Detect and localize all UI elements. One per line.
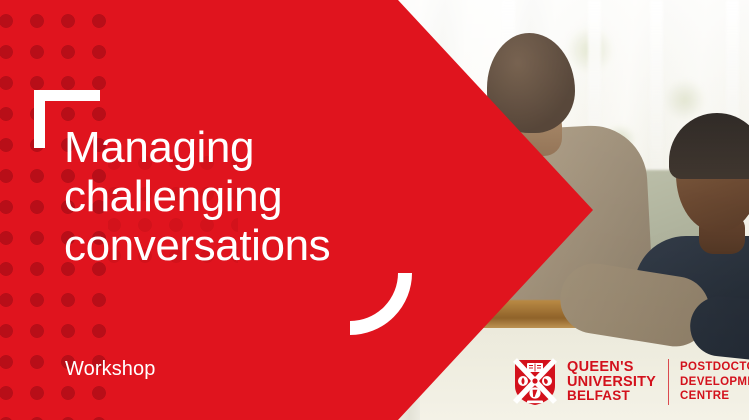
university-name-line-1: QUEEN'S (567, 360, 656, 375)
corner-bracket-vertical (34, 90, 45, 148)
headline-line-1: Managing (64, 123, 404, 172)
headline-line-3: conversations (64, 221, 404, 270)
queens-university-crest-icon (513, 358, 557, 406)
university-name: QUEEN'S UNIVERSITY BELFAST (567, 360, 656, 404)
unit-name-line-1: POSTDOCTORAL (680, 360, 749, 375)
logo-divider (668, 359, 669, 405)
unit-name-line-3: CENTRE (680, 389, 749, 404)
unit-name-line-2: DEVELOPMENT (680, 375, 749, 390)
university-name-line-3: BELFAST (567, 389, 656, 404)
quarter-arc-icon (350, 273, 412, 335)
event-type-label: Workshop (65, 357, 155, 381)
unit-name: POSTDOCTORAL DEVELOPMENT CENTRE (680, 360, 749, 404)
headline-line-2: challenging (64, 172, 404, 221)
workshop-promo-banner: Managing challenging conversations Works… (0, 0, 749, 420)
university-name-line-2: UNIVERSITY (567, 375, 656, 390)
page-title: Managing challenging conversations (64, 123, 404, 270)
brand-logo-lockup: QUEEN'S UNIVERSITY BELFAST POSTDOCTORAL … (513, 358, 749, 406)
